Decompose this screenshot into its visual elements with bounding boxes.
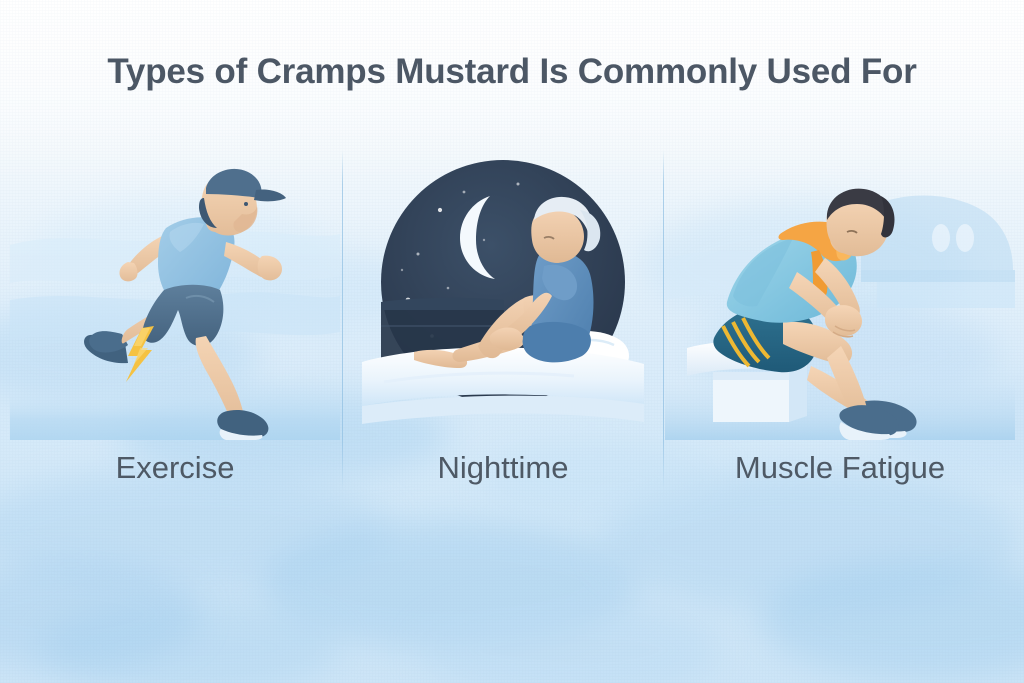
cap-brim — [254, 189, 286, 201]
panel-label-exercise: Exercise — [10, 450, 340, 486]
scene-running-man — [10, 150, 340, 440]
panel-fatigue: Muscle Fatigue — [665, 150, 1015, 510]
infographic-canvas: Types of Cramps Mustard Is Commonly Used… — [0, 0, 1024, 683]
runner-shorts — [142, 285, 223, 346]
page-title: Types of Cramps Mustard Is Commonly Used… — [0, 52, 1024, 92]
background-weight-b — [956, 224, 974, 252]
scene-athlete-bench — [665, 150, 1015, 440]
bed — [362, 348, 644, 424]
cap-crown — [206, 169, 262, 198]
panel-divider-1 — [342, 150, 343, 490]
panel-label-nighttime: Nighttime — [344, 450, 662, 486]
eye — [244, 202, 248, 206]
scene-night-bed — [344, 150, 662, 440]
panel-nighttime: Nighttime — [344, 150, 662, 510]
panel-divider-2 — [663, 150, 664, 490]
background-weight-a — [932, 224, 950, 252]
panel-label-muscle-fatigue: Muscle Fatigue — [665, 450, 1015, 486]
panel-exercise: Exercise — [10, 150, 340, 510]
gown-hip — [523, 322, 591, 362]
